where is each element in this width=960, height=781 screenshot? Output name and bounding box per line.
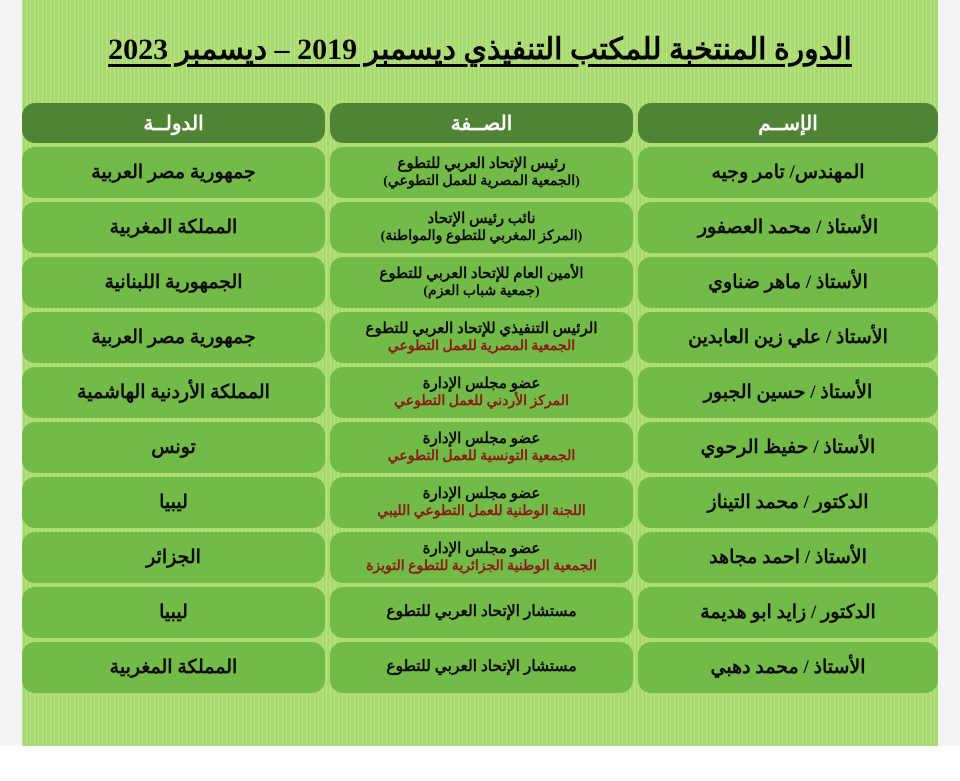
member-country: المملكة المغربية (110, 217, 238, 239)
table-row: الأستاذ / حسين الجبورعضو مجلس الإدارةالم… (22, 367, 938, 418)
member-position-line-2: اللجنة الوطنية للعمل التطوعي الليبي (377, 503, 585, 520)
cell-country: المملكة المغربية (22, 202, 325, 253)
cell-position: عضو مجلس الإدارةالمركز الأردني للعمل الت… (330, 367, 633, 418)
member-position-line-1: مستشار الإتحاد العربي للتطوع (386, 603, 576, 622)
page-root: الدورة المنتخبة للمكتب التنفيذي ديسمبر 2… (0, 0, 960, 781)
cell-country: المملكة المغربية (22, 642, 325, 693)
column-header-position-label: الصــفة (451, 111, 513, 136)
table-row: الدكتور / محمد التينازعضو مجلس الإدارةال… (22, 477, 938, 528)
member-position-line-2: (الجمعية المصرية للعمل التطوعي) (383, 173, 580, 190)
executive-office-table: الإســم الصــفة الدولــة المهندس/ تامر و… (22, 103, 938, 697)
column-header-name: الإســم (638, 103, 938, 143)
member-country: المملكة الأردنية الهاشمية (77, 382, 270, 404)
member-name: الأستاذ / محمد العصفور (698, 217, 878, 239)
member-position-line-2: (المركز المغربي للتطوع والمواطنة) (381, 228, 583, 245)
cell-name: الدكتور / محمد التيناز (638, 477, 938, 528)
cell-name: الأستاذ / حفيظ الرحوي (638, 422, 938, 473)
page-title: الدورة المنتخبة للمكتب التنفيذي ديسمبر 2… (108, 32, 852, 69)
cell-position: مستشار الإتحاد العربي للتطوع (330, 587, 633, 638)
member-name: الأستاذ / علي زين العابدين (688, 327, 888, 349)
cell-country: ليبيا (22, 587, 325, 638)
member-country: تونس (151, 437, 196, 459)
page-bottom-margin (0, 746, 960, 781)
cell-name: المهندس/ تامر وجيه (638, 147, 938, 198)
member-position-line-1: عضو مجلس الإدارة (423, 430, 541, 448)
table-row: الأستاذ / احمد مجاهدعضو مجلس الإدارةالجم… (22, 532, 938, 583)
member-position-line-1: عضو مجلس الإدارة (423, 375, 541, 393)
member-position-line-1: الرئيس التنفيذي للإتحاد العربي للتطوع (366, 320, 598, 338)
cell-position: عضو مجلس الإدارةالجمعية التونسية للعمل ا… (330, 422, 633, 473)
table-row: الأستاذ / حفيظ الرحويعضو مجلس الإدارةالج… (22, 422, 938, 473)
column-header-name-label: الإســم (758, 111, 818, 136)
cell-country: الجزائر (22, 532, 325, 583)
member-country: جمهورية مصر العربية (91, 162, 256, 184)
member-name: الدكتور / محمد التيناز (708, 492, 869, 514)
cell-name: الأستاذ / حسين الجبور (638, 367, 938, 418)
cell-name: الأستاذ / ماهر ضناوي (638, 257, 938, 308)
table-header-row: الإســم الصــفة الدولــة (22, 103, 938, 143)
cell-country: جمهورية مصر العربية (22, 312, 325, 363)
member-position-line-1: عضو مجلس الإدارة (423, 540, 541, 558)
cell-name: الأستاذ / محمد دهبي (638, 642, 938, 693)
member-position-line-1: نائب رئيس الإتحاد (427, 210, 535, 228)
member-name: الأستاذ / محمد دهبي (711, 657, 866, 679)
column-header-country-label: الدولــة (143, 111, 203, 136)
column-header-country: الدولــة (22, 103, 325, 143)
cell-position: الرئيس التنفيذي للإتحاد العربي للتطوعالج… (330, 312, 633, 363)
member-country: المملكة المغربية (110, 657, 238, 679)
member-position-line-1: مستشار الإتحاد العربي للتطوع (386, 658, 576, 677)
table-body: المهندس/ تامر وجيهرئيس الإتحاد العربي لل… (22, 147, 938, 693)
member-name: المهندس/ تامر وجيه (711, 162, 864, 184)
table-row: الأستاذ / ماهر ضناويالأمين العام للإتحاد… (22, 257, 938, 308)
member-position-line-2: الجمعية المصرية للعمل التطوعي (388, 338, 575, 355)
cell-position: مستشار الإتحاد العربي للتطوع (330, 642, 633, 693)
cell-country: ليبيا (22, 477, 325, 528)
table-row: الدكتور / زايد ابو هديمةمستشار الإتحاد ا… (22, 587, 938, 638)
member-name: الأستاذ / حفيظ الرحوي (701, 437, 876, 459)
table-row: الأستاذ / محمد العصفورنائب رئيس الإتحاد(… (22, 202, 938, 253)
member-country: ليبيا (159, 492, 188, 514)
cell-country: المملكة الأردنية الهاشمية (22, 367, 325, 418)
cell-name: الأستاذ / احمد مجاهد (638, 532, 938, 583)
cell-position: عضو مجلس الإدارةالجمعية الوطنية الجزائري… (330, 532, 633, 583)
page-title-container: الدورة المنتخبة للمكتب التنفيذي ديسمبر 2… (22, 0, 938, 100)
member-position-line-2: (جمعية شباب العزم) (423, 283, 539, 300)
cell-country: جمهورية مصر العربية (22, 147, 325, 198)
cell-name: الأستاذ / محمد العصفور (638, 202, 938, 253)
cell-position: نائب رئيس الإتحاد(المركز المغربي للتطوع … (330, 202, 633, 253)
member-name: الأستاذ / ماهر ضناوي (708, 272, 868, 294)
member-country: الجمهورية اللبنانية (104, 272, 242, 294)
cell-country: تونس (22, 422, 325, 473)
member-position-line-1: الأمين العام للإتحاد العربي للتطوع (379, 265, 583, 283)
member-position-line-2: الجمعية التونسية للعمل التطوعي (388, 448, 575, 465)
table-row: الأستاذ / علي زين العابدينالرئيس التنفيذ… (22, 312, 938, 363)
member-position-line-1: رئيس الإتحاد العربي للتطوع (397, 155, 565, 173)
cell-country: الجمهورية اللبنانية (22, 257, 325, 308)
member-name: الأستاذ / احمد مجاهد (709, 547, 867, 569)
column-header-position: الصــفة (330, 103, 633, 143)
cell-position: الأمين العام للإتحاد العربي للتطوع(جمعية… (330, 257, 633, 308)
table-row: الأستاذ / محمد دهبيمستشار الإتحاد العربي… (22, 642, 938, 693)
cell-position: رئيس الإتحاد العربي للتطوع(الجمعية المصر… (330, 147, 633, 198)
member-name: الدكتور / زايد ابو هديمة (700, 602, 876, 624)
member-position-line-1: عضو مجلس الإدارة (423, 485, 541, 503)
table-row: المهندس/ تامر وجيهرئيس الإتحاد العربي لل… (22, 147, 938, 198)
cell-name: الأستاذ / علي زين العابدين (638, 312, 938, 363)
page-right-margin (938, 0, 960, 781)
member-country: ليبيا (159, 602, 188, 624)
member-position-line-2: المركز الأردني للعمل التطوعي (394, 393, 569, 410)
member-position-line-2: الجمعية الوطنية الجزائرية للتطوع التويزة (366, 558, 597, 575)
cell-name: الدكتور / زايد ابو هديمة (638, 587, 938, 638)
member-name: الأستاذ / حسين الجبور (704, 382, 873, 404)
cell-position: عضو مجلس الإدارةاللجنة الوطنية للعمل الت… (330, 477, 633, 528)
member-country: الجزائر (146, 547, 201, 569)
member-country: جمهورية مصر العربية (91, 327, 256, 349)
page-left-margin (0, 0, 22, 781)
